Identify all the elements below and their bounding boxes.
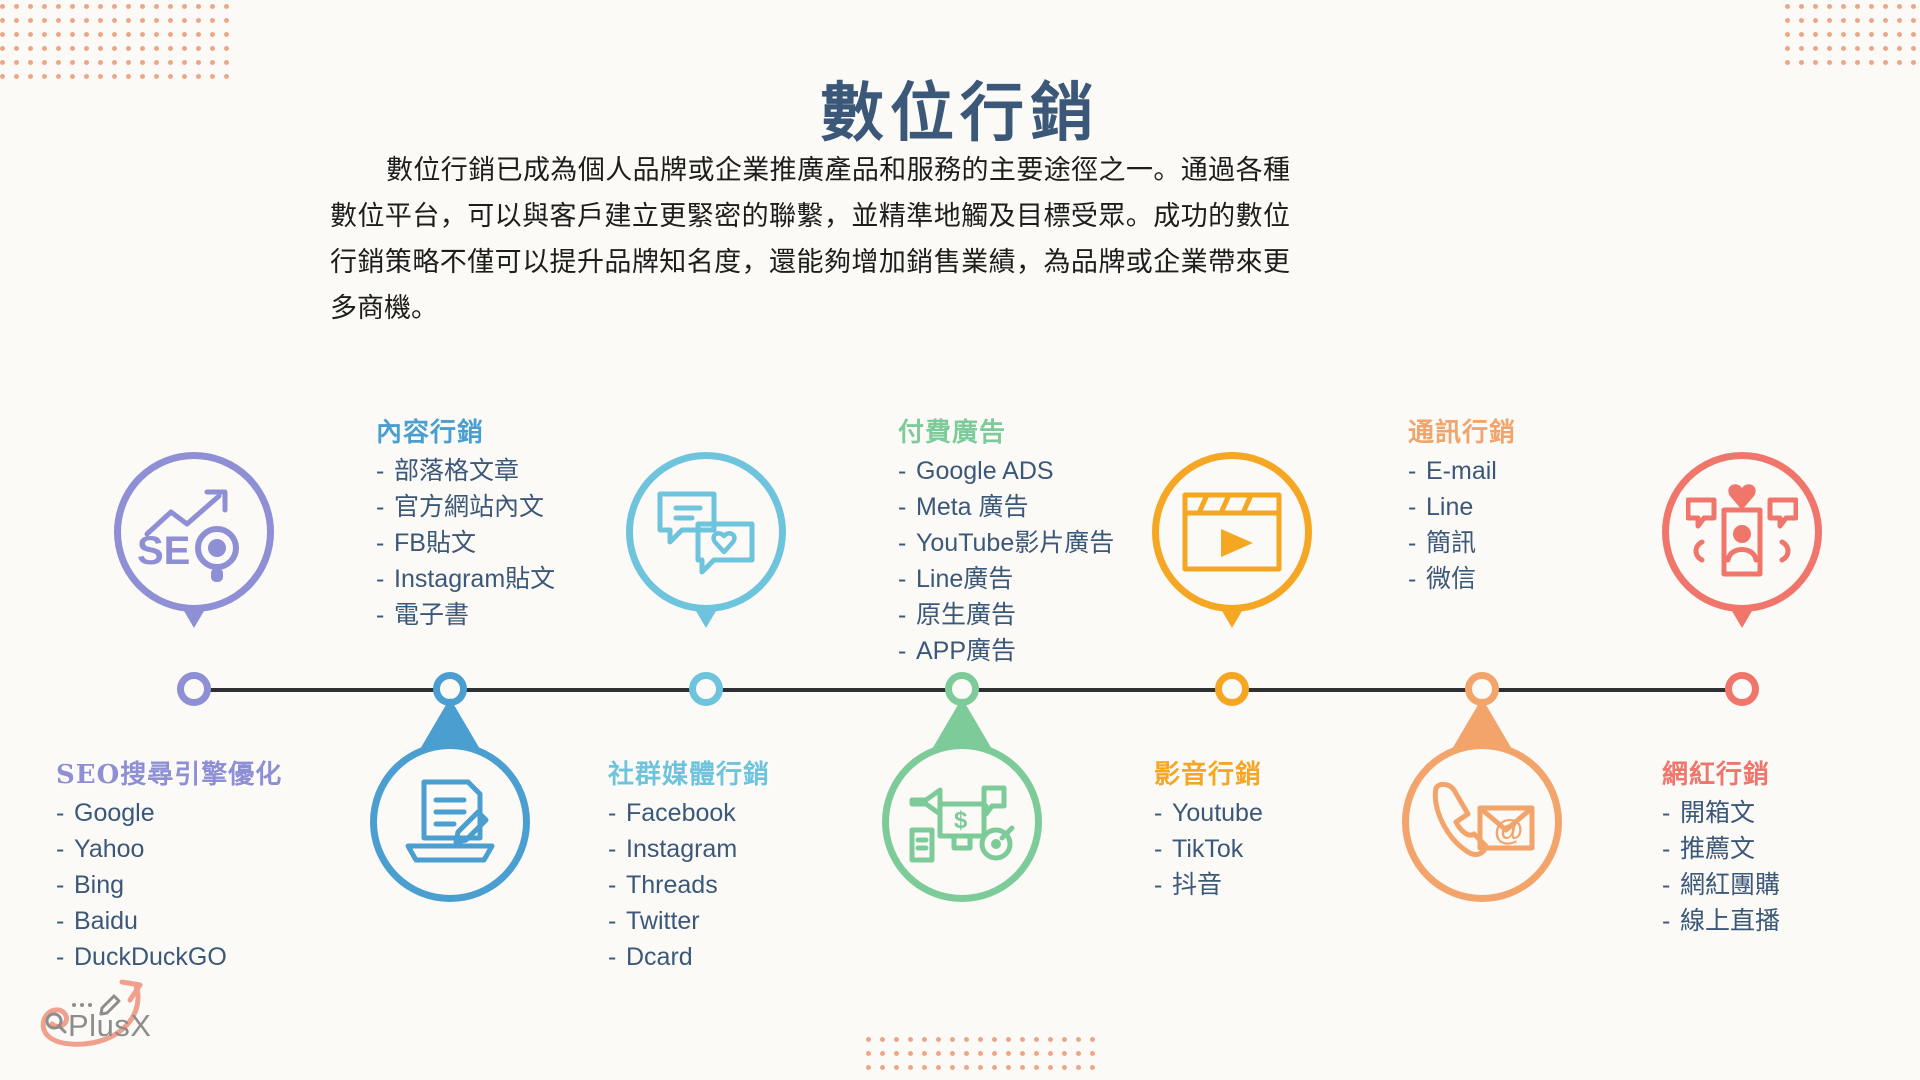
bullet-dash: -	[1408, 453, 1426, 489]
list-item: -FB貼文	[376, 525, 555, 561]
infographic-canvas: 數位行銷 數位行銷已成為個人品牌或企業推廣產品和服務的主要途徑之一。通過各種數位…	[0, 0, 1920, 1080]
list-item: -開箱文	[1662, 795, 1780, 831]
list-item: -Facebook	[608, 795, 770, 831]
list-item: -Instagram貼文	[376, 561, 555, 597]
bullet-dash: -	[1408, 489, 1426, 525]
timeline-node-6	[1725, 672, 1759, 706]
bullet-dash: -	[376, 489, 394, 525]
plusx-logo: PlusX	[18, 978, 168, 1058]
pin-marker-1[interactable]	[370, 742, 530, 914]
section-list: -E-mail-Line-簡訊-微信	[1408, 453, 1516, 597]
bullet-dash: -	[56, 939, 74, 975]
dot-grid-top-right	[1785, 4, 1916, 65]
list-item: -E-mail	[1408, 453, 1516, 489]
list-item: -網紅團購	[1662, 867, 1780, 903]
list-item: -YouTube影片廣告	[898, 525, 1114, 561]
bullet-dash: -	[608, 795, 626, 831]
section-heading: SEO搜尋引擎優化	[56, 754, 282, 791]
bullet-dash: -	[1662, 831, 1680, 867]
list-item: -Dcard	[608, 939, 770, 975]
list-item: -Instagram	[608, 831, 770, 867]
list-item: -簡訊	[1408, 525, 1516, 561]
list-item: -電子書	[376, 597, 555, 633]
label-block-6: 網紅行銷 -開箱文-推薦文-網紅團購-線上直播	[1662, 754, 1780, 939]
label-block-5: 通訊行銷 -E-mail-Line-簡訊-微信	[1408, 412, 1516, 597]
list-item: -Line	[1408, 489, 1516, 525]
bullet-dash: -	[898, 561, 916, 597]
svg-text:SE: SE	[137, 529, 190, 573]
section-heading: 付費廣告	[898, 412, 1114, 449]
list-item: -Yahoo	[56, 831, 282, 867]
bullet-dash: -	[608, 831, 626, 867]
timeline-node-0	[177, 672, 211, 706]
section-list: -部落格文章-官方網站內文-FB貼文-Instagram貼文-電子書	[376, 453, 555, 633]
pin-marker-3[interactable]: $	[882, 742, 1042, 914]
bullet-dash: -	[56, 903, 74, 939]
list-item: -推薦文	[1662, 831, 1780, 867]
dot-grid-bottom	[866, 1037, 1095, 1070]
list-item: -Threads	[608, 867, 770, 903]
list-item: -抖音	[1154, 867, 1263, 903]
timeline-node-4	[1215, 672, 1249, 706]
list-item: -Meta 廣告	[898, 489, 1114, 525]
label-block-1: 內容行銷 -部落格文章-官方網站內文-FB貼文-Instagram貼文-電子書	[376, 412, 555, 633]
bullet-dash: -	[608, 939, 626, 975]
page-title: 數位行銷	[0, 62, 1920, 154]
bullet-dash: -	[376, 561, 394, 597]
bullet-dash: -	[608, 903, 626, 939]
section-list: -Google-Yahoo-Bing-Baidu-DuckDuckGO	[56, 795, 282, 975]
list-item: -APP廣告	[898, 633, 1114, 669]
section-heading: 內容行銷	[376, 412, 555, 449]
list-item: -部落格文章	[376, 453, 555, 489]
bullet-dash: -	[376, 525, 394, 561]
plusx-wordmark: PlusX	[68, 1008, 151, 1044]
list-item: -DuckDuckGO	[56, 939, 282, 975]
bullet-dash: -	[56, 867, 74, 903]
list-item: -Baidu	[56, 903, 282, 939]
list-item: -Bing	[56, 867, 282, 903]
section-heading: 網紅行銷	[1662, 754, 1780, 791]
bullet-dash: -	[1662, 795, 1680, 831]
label-block-3: 付費廣告 -Google ADS-Meta 廣告-YouTube影片廣告-Lin…	[898, 412, 1114, 669]
timeline-node-2	[689, 672, 723, 706]
list-item: -官方網站內文	[376, 489, 555, 525]
pin-marker-6[interactable]	[1662, 452, 1822, 624]
label-block-0: SEO搜尋引擎優化 -Google-Yahoo-Bing-Baidu-DuckD…	[56, 754, 282, 975]
label-block-4: 影音行銷 -Youtube-TikTok-抖音	[1154, 754, 1263, 903]
pin-marker-0[interactable]: SE	[114, 452, 274, 624]
label-block-2: 社群媒體行銷 -Facebook-Instagram-Threads-Twitt…	[608, 754, 770, 975]
section-list: -Youtube-TikTok-抖音	[1154, 795, 1263, 903]
bullet-dash: -	[376, 597, 394, 633]
section-list: -Google ADS-Meta 廣告-YouTube影片廣告-Line廣告-原…	[898, 453, 1114, 669]
bullet-dash: -	[1154, 795, 1172, 831]
pin-marker-5[interactable]: @	[1402, 742, 1562, 914]
bullet-dash: -	[1154, 867, 1172, 903]
pin-marker-2[interactable]	[626, 452, 786, 624]
list-item: -原生廣告	[898, 597, 1114, 633]
list-item: -Line廣告	[898, 561, 1114, 597]
pin-marker-4[interactable]	[1152, 452, 1312, 624]
bullet-dash: -	[898, 597, 916, 633]
svg-text:@: @	[1494, 814, 1523, 847]
intro-paragraph: 數位行銷已成為個人品牌或企業推廣產品和服務的主要途徑之一。通過各種數位平台，可以…	[330, 148, 1290, 332]
list-item: -Google ADS	[898, 453, 1114, 489]
list-item: -TikTok	[1154, 831, 1263, 867]
section-heading: 社群媒體行銷	[608, 754, 770, 791]
bullet-dash: -	[56, 831, 74, 867]
list-item: -Twitter	[608, 903, 770, 939]
bullet-dash: -	[1662, 867, 1680, 903]
bullet-dash: -	[1408, 561, 1426, 597]
bullet-dash: -	[898, 489, 916, 525]
bullet-dash: -	[56, 795, 74, 831]
svg-text:$: $	[954, 807, 968, 834]
section-heading: 影音行銷	[1154, 754, 1263, 791]
bullet-dash: -	[1408, 525, 1426, 561]
bullet-dash: -	[1662, 903, 1680, 939]
bullet-dash: -	[608, 867, 626, 903]
bullet-dash: -	[898, 633, 916, 669]
bullet-dash: -	[376, 453, 394, 489]
section-heading: 通訊行銷	[1408, 412, 1516, 449]
section-list: -Facebook-Instagram-Threads-Twitter-Dcar…	[608, 795, 770, 975]
bullet-dash: -	[1154, 831, 1172, 867]
bullet-dash: -	[898, 453, 916, 489]
list-item: -線上直播	[1662, 903, 1780, 939]
list-item: -Youtube	[1154, 795, 1263, 831]
list-item: -微信	[1408, 561, 1516, 597]
section-list: -開箱文-推薦文-網紅團購-線上直播	[1662, 795, 1780, 939]
list-item: -Google	[56, 795, 282, 831]
bullet-dash: -	[898, 525, 916, 561]
